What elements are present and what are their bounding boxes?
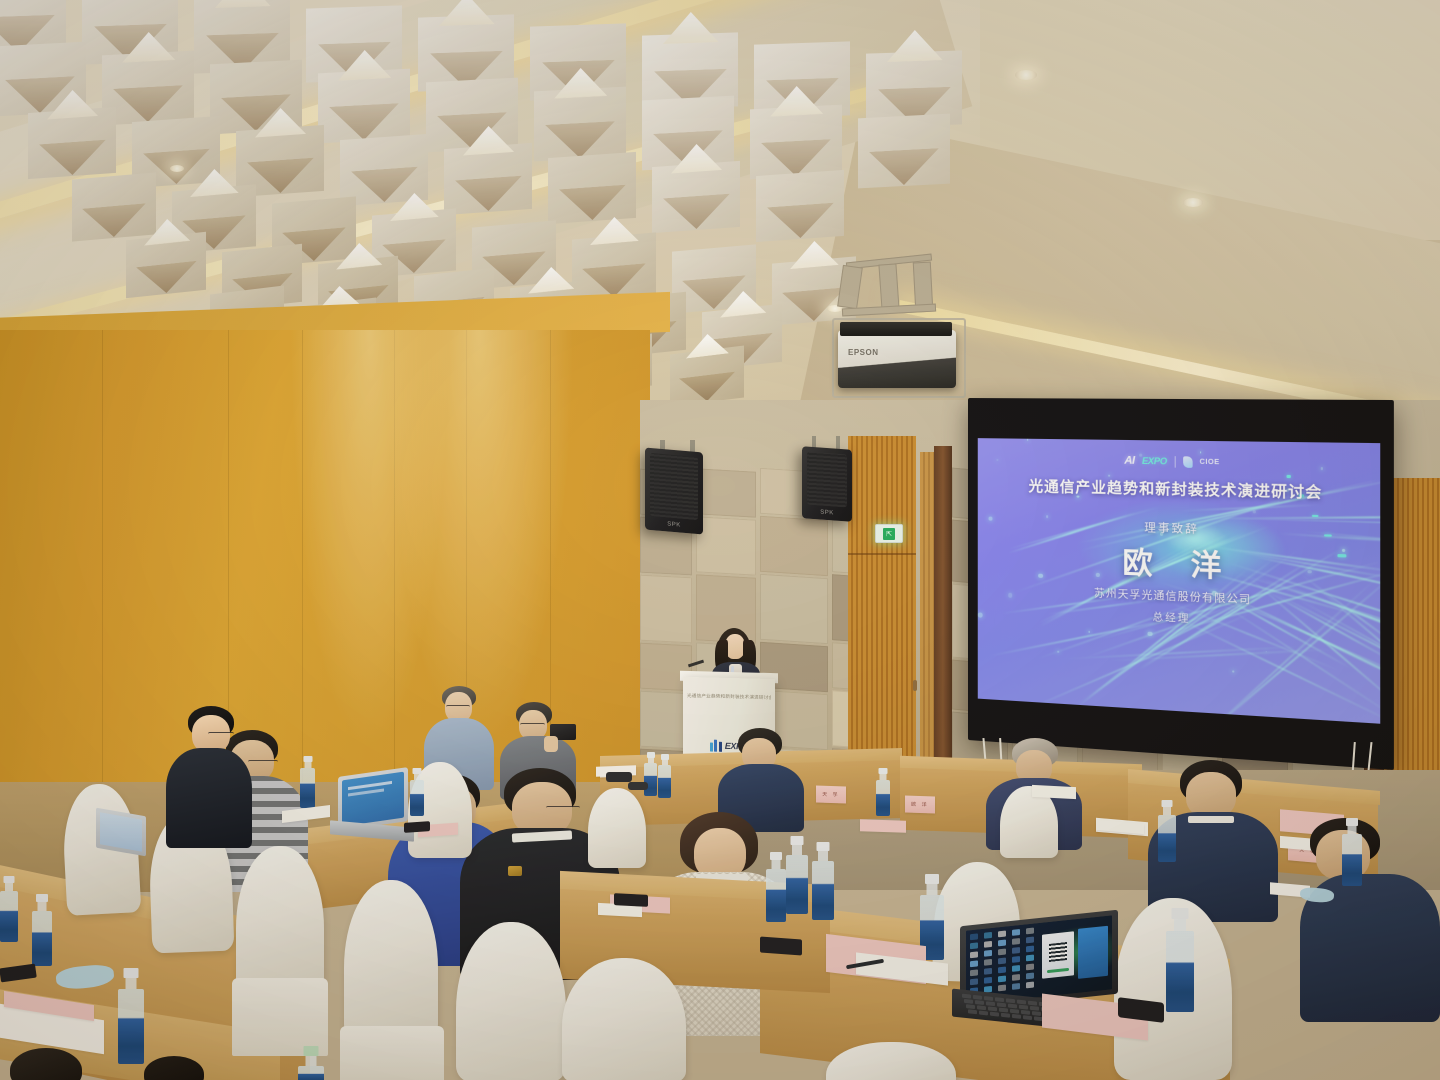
water-bottle[interactable] [812, 842, 834, 920]
downlight [1183, 198, 1203, 207]
slide-title: 光通信产业趋势和新封装技术演进研讨会 [978, 474, 1380, 504]
slide-logo-row: AI EXPO CIOE [978, 452, 1380, 471]
attendee-left-glasses [166, 706, 252, 846]
chair [236, 846, 324, 996]
water-bottle[interactable] [118, 968, 144, 1064]
exit-sign: ⇱ [875, 524, 903, 543]
downlight [1015, 70, 1037, 80]
ceiling-speaker-right: SPK [802, 446, 852, 521]
cioe-logo-text: CIOE [1200, 458, 1220, 466]
laptop-far-left[interactable] [92, 812, 150, 864]
water-bottle[interactable] [1342, 818, 1362, 886]
water-bottle[interactable] [658, 754, 671, 798]
attendee-blue-back-right [1300, 818, 1440, 1018]
chair-skirt [232, 978, 328, 1056]
podium-header-text: 光通信产业趋势和新封装技术演进研讨会 [687, 693, 771, 701]
water-bottle[interactable] [32, 894, 52, 966]
remote-control[interactable] [628, 782, 648, 790]
water-bottle[interactable] [766, 852, 786, 922]
jacket-badge [508, 866, 522, 876]
slide-light-streaks [978, 438, 1380, 443]
name-card-label: 天 孚 [816, 791, 846, 799]
chair [344, 880, 438, 1040]
chair [588, 788, 646, 868]
name-card: 天 孚 [816, 785, 846, 803]
qr-window [1042, 931, 1074, 978]
presentation-slide: AI EXPO CIOE 光通信产业趋势和新封装技术演进研讨会 理事致辞 欧 洋… [978, 438, 1380, 724]
wood-trim-dark [934, 446, 952, 776]
wood-slat-panel [920, 452, 934, 772]
smartphone[interactable] [404, 821, 430, 833]
projector-mount-plate [840, 322, 952, 336]
conference-room-photo: EPSON ⇱ SPK SPK [0, 0, 1440, 1080]
blue-window [1078, 926, 1108, 979]
headphones [606, 772, 632, 782]
paper-sheet [1032, 785, 1076, 799]
laptop-left-display [342, 772, 404, 827]
door-seam [848, 553, 916, 555]
water-bottle[interactable] [300, 756, 315, 808]
name-card: 欧 洋 [905, 795, 935, 813]
exit-sign-glyph: ⇱ [883, 528, 895, 540]
expo-logo-text: EXPO [1142, 456, 1167, 467]
water-bottle[interactable] [0, 876, 18, 942]
chair-skirt [340, 1026, 444, 1080]
cioe-logo-icon [1183, 456, 1193, 468]
attendee-foreground-left [0, 1048, 92, 1080]
smartphone[interactable] [760, 937, 802, 956]
wood-slat-panel [848, 436, 916, 776]
logo-divider [1174, 456, 1175, 467]
qr-code-icon [1049, 942, 1067, 962]
paper-sheet-pink [860, 819, 906, 833]
smartphone[interactable] [614, 893, 648, 907]
projector-brand-label: EPSON [848, 348, 879, 357]
ai-logo-icon: AI [1124, 454, 1134, 467]
name-card-label: 欧 洋 [905, 801, 935, 809]
water-bottle[interactable] [786, 836, 808, 914]
chair [456, 922, 566, 1080]
laptop-right-display [966, 915, 1112, 1004]
projector: EPSON [838, 330, 956, 388]
laptop-left[interactable] [330, 772, 412, 844]
ceiling-speaker-left: SPK [645, 447, 703, 534]
water-bottle[interactable] [1158, 800, 1176, 862]
downlight [170, 165, 184, 172]
projection-screen[interactable]: AI EXPO CIOE 光通信产业趋势和新封装技术演进研讨会 理事致辞 欧 洋… [968, 398, 1394, 770]
water-bottle[interactable] [410, 768, 424, 816]
water-bottle[interactable] [298, 1046, 324, 1080]
water-bottle[interactable] [1166, 908, 1194, 1012]
water-bottle[interactable] [876, 768, 890, 816]
chair [562, 958, 686, 1080]
lanyard [1188, 816, 1234, 823]
attendee-foreground-left-2 [140, 1056, 210, 1080]
door-handle-icon [913, 680, 917, 691]
